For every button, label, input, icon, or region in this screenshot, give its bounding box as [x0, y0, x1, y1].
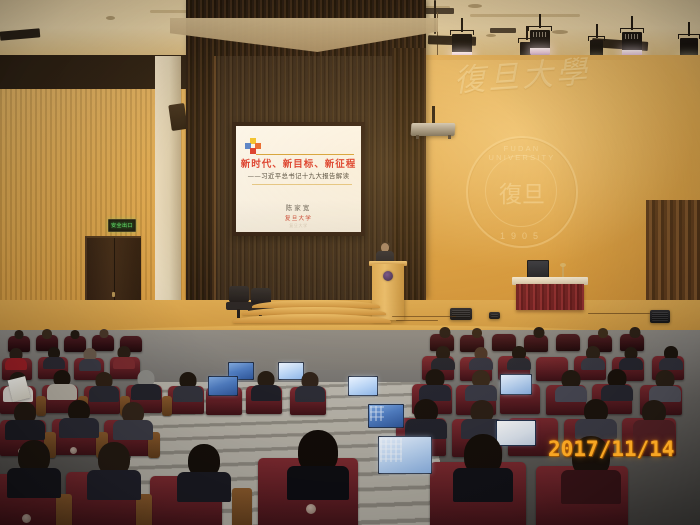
slide-subtitle: ——习近平总书记十九大报告解读 [236, 171, 361, 180]
audience-member [626, 327, 644, 341]
slide-footer: 复旦大学 [236, 223, 361, 229]
floor-monitor-left [450, 308, 472, 320]
audience-member [78, 348, 102, 366]
head-table-skirt [516, 284, 584, 310]
audience-member [42, 347, 66, 365]
audience-member [468, 347, 494, 367]
seat-armrest [232, 488, 252, 525]
laptop[interactable] [368, 404, 404, 428]
audience-member [38, 329, 56, 341]
audience-member [436, 327, 454, 341]
audience-member [66, 330, 84, 342]
audience-member [172, 372, 204, 396]
seat[interactable] [556, 334, 580, 351]
projector-mount-rod [432, 106, 435, 124]
laptop[interactable] [500, 374, 532, 395]
door-handle[interactable] [112, 292, 115, 297]
seat-number-badge [22, 514, 31, 523]
projection-screen: 新时代、新目标、新征程 ——习近平总书记十九大报告解读 陈家宽 复旦大学 复旦大… [236, 126, 361, 232]
stage-cable-2 [396, 320, 438, 321]
slide-speaker-name: 陈家宽 [236, 202, 361, 212]
audience-member [112, 402, 154, 432]
auditorium-photo: 復旦大學 FUDAN UNIVERSITY 復旦 1905 安全出口 新时代、新… [0, 0, 700, 525]
seat-armrest [56, 494, 72, 525]
audience-member [88, 372, 120, 396]
audience-member [86, 442, 142, 486]
audience-member [618, 347, 644, 367]
audience-member [648, 370, 682, 396]
audience-member [452, 434, 514, 484]
audience-member [95, 329, 113, 341]
audience-member [286, 430, 350, 482]
laptop[interactable] [208, 376, 238, 396]
audience-member [632, 400, 676, 432]
audience-member [506, 346, 532, 366]
audience-member [468, 328, 486, 342]
wall-pillar [155, 56, 181, 324]
seat-number-badge [306, 504, 316, 514]
slide-title: 新时代、新目标、新征程 [236, 156, 361, 170]
projector-foot-left [416, 135, 419, 139]
audience-member [10, 330, 28, 342]
audience-member [580, 346, 606, 366]
audience-member [4, 348, 28, 366]
lectern-emblem [383, 271, 393, 281]
audience-member [594, 328, 612, 342]
audience-member [58, 400, 100, 430]
slide-divider-top [256, 154, 354, 155]
seal-year-text: 1905 [468, 231, 576, 241]
exit-sign-label: 安全出口 [111, 222, 133, 229]
pinwheel-logo-icon [245, 138, 261, 154]
audience-member [176, 444, 232, 488]
audience-member [46, 370, 78, 394]
university-seal: FUDAN UNIVERSITY 復旦 1905 [466, 136, 578, 248]
audience-member [294, 372, 326, 396]
floor-monitor-right [650, 310, 670, 323]
audience-member [112, 346, 136, 364]
audience-member [4, 402, 46, 432]
audience-member [250, 371, 282, 395]
stage-cable-3 [588, 313, 650, 314]
audience-member [658, 346, 684, 366]
audience-member [404, 399, 448, 431]
seat-armrest [162, 396, 172, 416]
laptop[interactable] [348, 376, 378, 396]
slide-divider-bottom [252, 184, 352, 185]
camera-date-stamp: 2017/11/14 [548, 437, 674, 461]
audience-member [554, 370, 588, 396]
audience-member [130, 370, 162, 394]
stage-step-3 [233, 314, 391, 323]
projection-screen-frame: 新时代、新目标、新征程 ——习近平总书记十九大报告解读 陈家宽 复旦大学 复旦大… [232, 122, 365, 236]
slide-organization: 复旦大学 [236, 214, 361, 222]
stage-curtain-left [186, 0, 214, 300]
audience-member [6, 440, 62, 484]
audience-member [418, 369, 452, 395]
audience-member [464, 370, 498, 396]
audience-member [600, 369, 634, 395]
stage-light-3 [528, 14, 552, 58]
seat-number-badge [70, 447, 77, 454]
projector-foot-right [448, 135, 451, 139]
exit-sign: 安全出口 [108, 219, 136, 232]
audience-member [574, 399, 618, 431]
audience-member [430, 346, 456, 366]
wall-mounted-speaker [168, 103, 187, 131]
audience-member [530, 327, 548, 341]
stage-cable-1 [392, 316, 456, 317]
wall-calligraphy: 復旦大學 [453, 58, 587, 129]
laptop[interactable] [378, 436, 432, 474]
floor-box-mid [489, 312, 500, 319]
stage-light-5 [620, 16, 644, 60]
seal-core-text: 復旦 [499, 175, 545, 209]
